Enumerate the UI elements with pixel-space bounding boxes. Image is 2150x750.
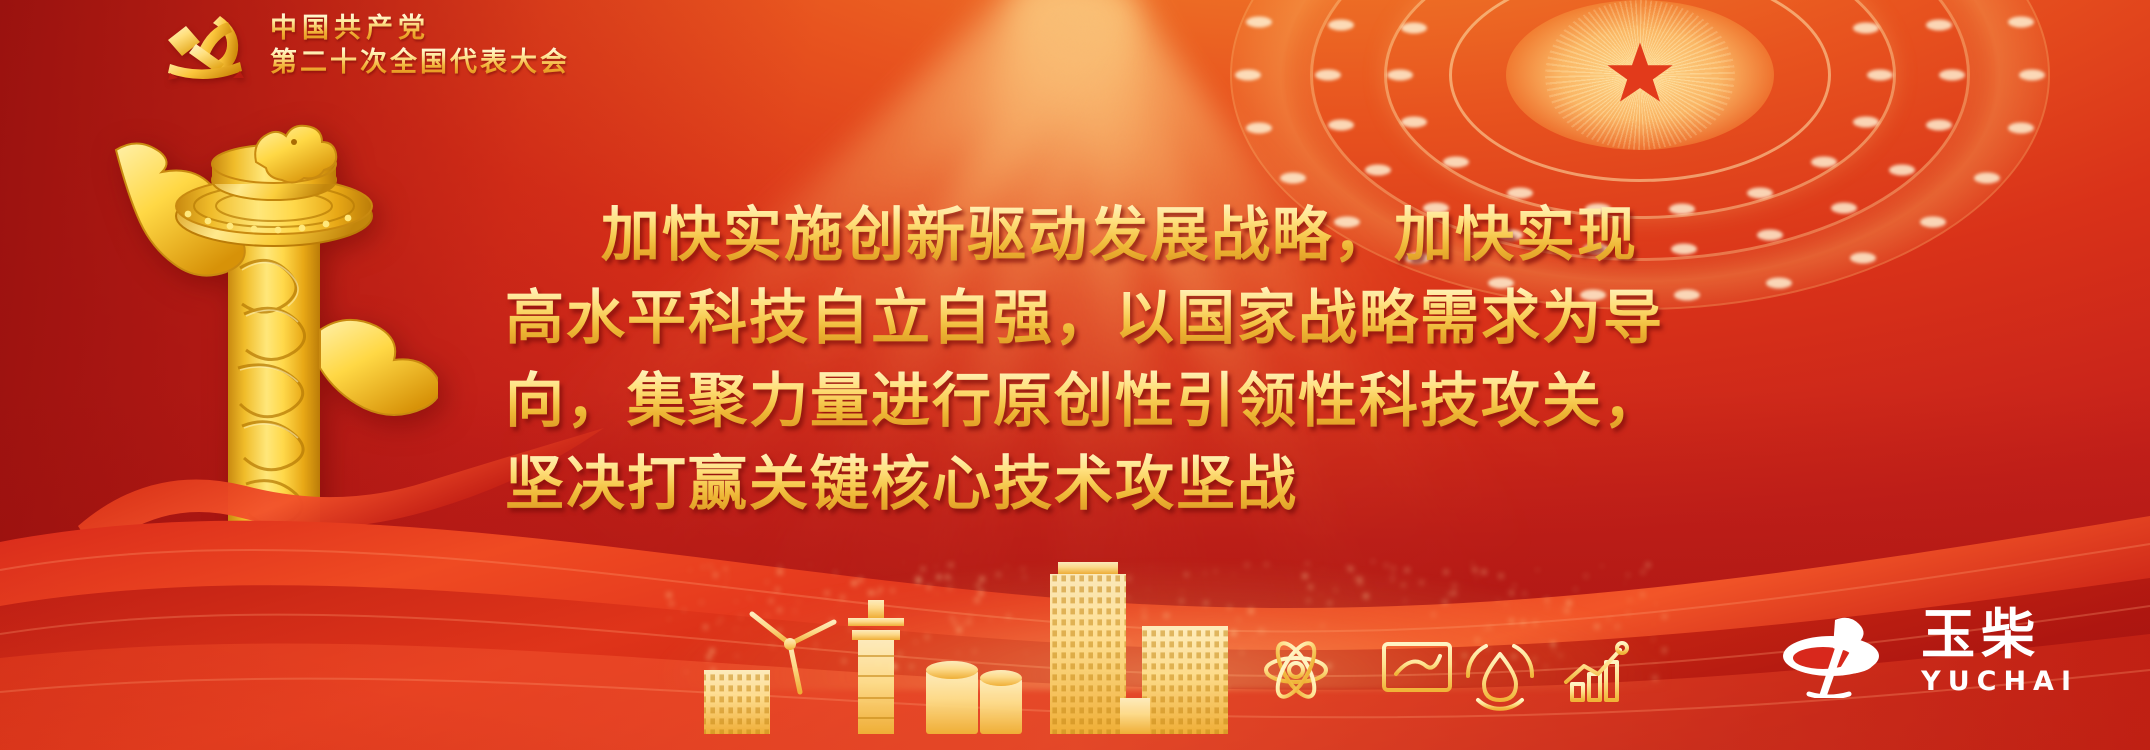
- slogan-block: 加快实施创新驱动发展战略，加快实现 高水平科技自立自强，以国家战略需求为导 向，…: [505, 193, 1695, 525]
- congress-banner: 中国共产党 第二十次全国代表大会 加快实施创新驱动发展战略，加快实现 高水平科技…: [0, 0, 2150, 750]
- yuchai-swoosh-icon: [1779, 612, 1899, 698]
- slogan-line-2: 高水平科技自立自强，以国家战略需求为导: [505, 276, 1695, 359]
- congress-title-line-1: 中国共产党: [270, 13, 570, 45]
- yuchai-name-cn: 玉柴: [1921, 608, 2041, 662]
- congress-emblem-block: 中国共产党 第二十次全国代表大会: [160, 12, 570, 80]
- yuchai-brand-logo: 玉柴 YUCHAI: [1779, 608, 2078, 703]
- slogan-line-3: 向，集聚力量进行原创性引领性科技攻关，: [505, 359, 1695, 442]
- congress-title-text: 中国共产党 第二十次全国代表大会: [270, 13, 570, 79]
- yuchai-wordmark: 玉柴 YUCHAI: [1921, 608, 2078, 703]
- slogan-line-4: 坚决打赢关键核心技术攻坚战: [505, 442, 1695, 525]
- slogan-line-1: 加快实施创新驱动发展战略，加快实现: [505, 193, 1695, 276]
- hammer-and-sickle-emblem-icon: [160, 12, 252, 80]
- yuchai-name-en: YUCHAI: [1921, 662, 2078, 703]
- congress-title-line-2: 第二十次全国代表大会: [270, 47, 570, 79]
- city-skyline-tech-icons: [700, 552, 1630, 742]
